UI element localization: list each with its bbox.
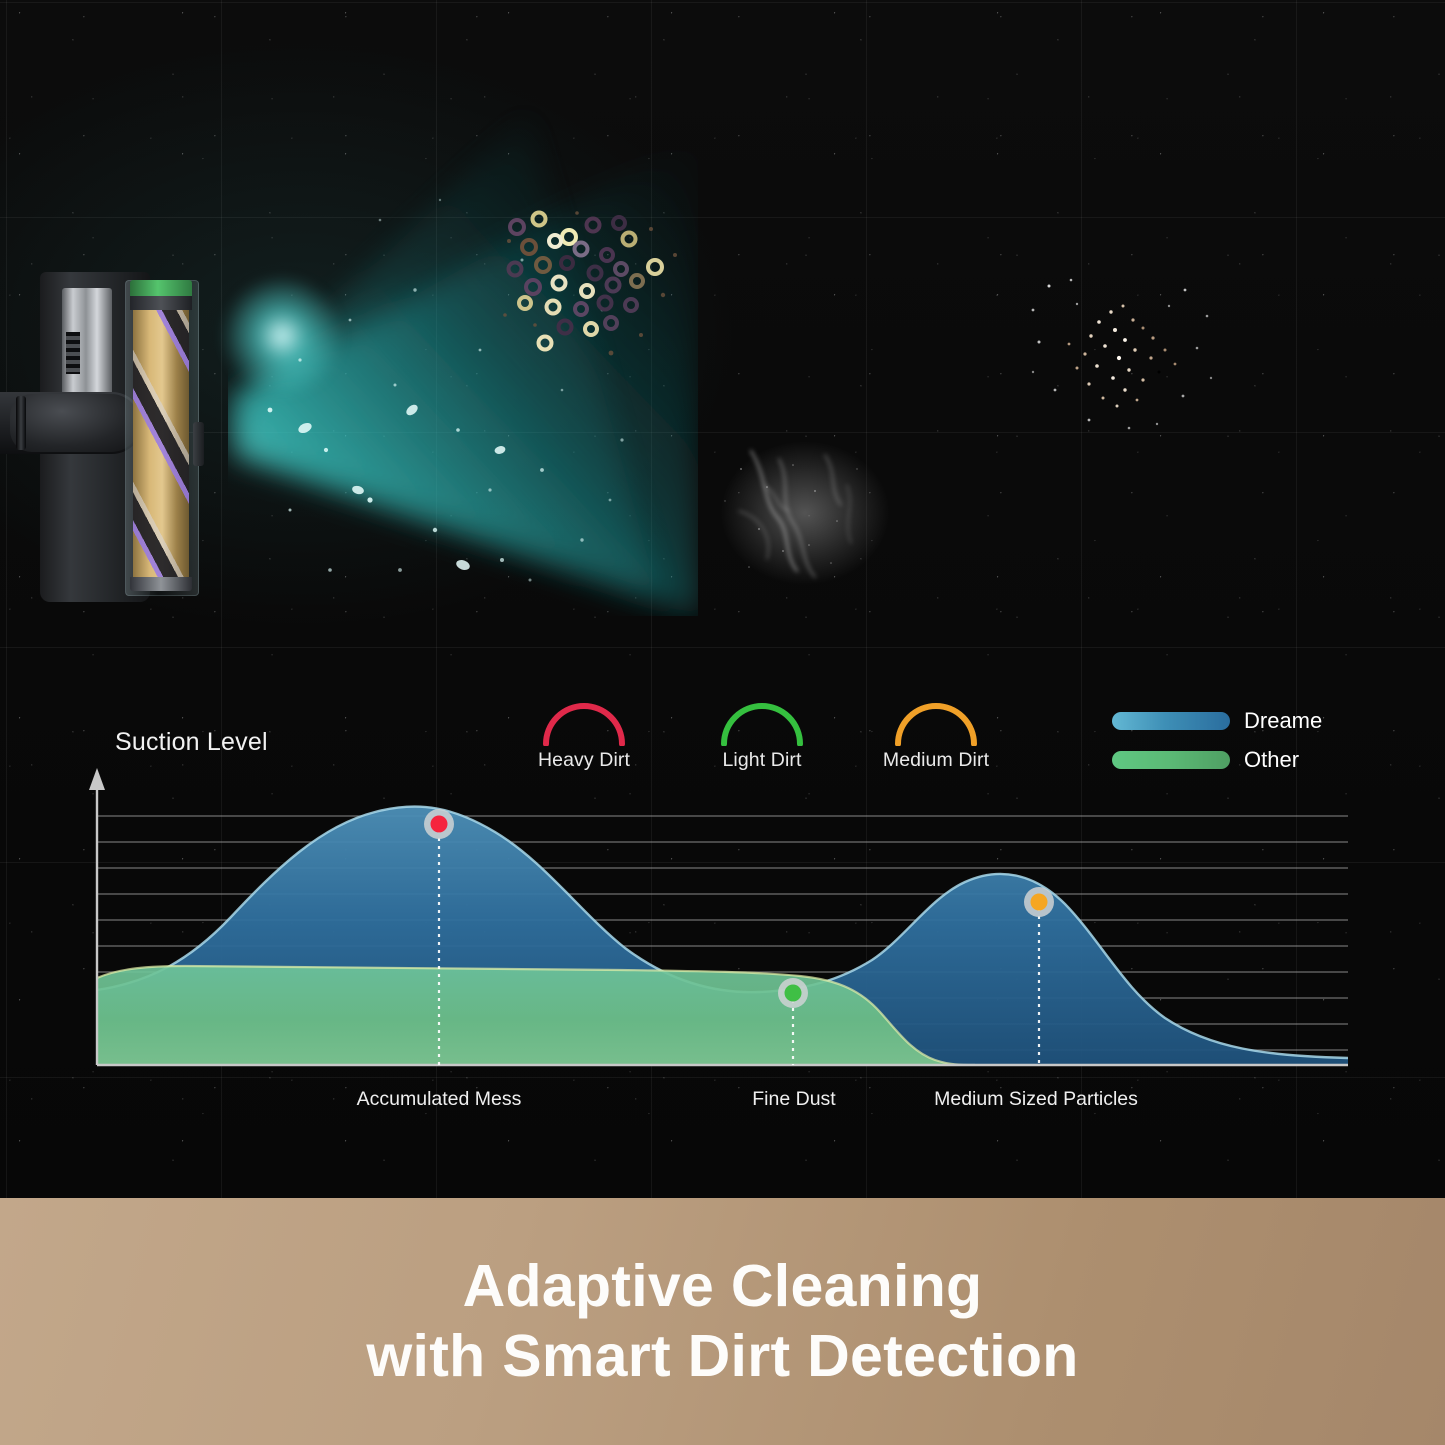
vacuum-top-cap <box>130 280 192 296</box>
marker-accumulated-mess[interactable] <box>424 809 454 839</box>
x-tick-medium-sized-particles: Medium Sized Particles <box>934 1088 1138 1111</box>
vacuum-cleaner <box>0 272 242 602</box>
vacuum-vent <box>66 332 80 374</box>
banner-headline-line2: with Smart Dirt Detection <box>366 1322 1078 1391</box>
marker-medium-sized-particles[interactable] <box>1024 887 1054 917</box>
x-tick-accumulated-mess: Accumulated Mess <box>357 1088 522 1111</box>
vacuum-latch <box>193 422 204 466</box>
vacuum-joint <box>10 394 140 452</box>
vacuum-roller-brush <box>133 290 189 586</box>
bottom-banner: Adaptive Cleaning with Smart Dirt Detect… <box>0 1198 1445 1445</box>
product-feature-image: Suction Level Heavy Dirt Light Dirt Medi… <box>0 0 1445 1445</box>
suction-level-chart <box>0 660 1445 1140</box>
dark-scene: Suction Level Heavy Dirt Light Dirt Medi… <box>0 0 1445 1198</box>
y-axis-arrow-icon <box>89 768 105 790</box>
vacuum-roller-band <box>130 296 192 310</box>
x-tick-fine-dust: Fine Dust <box>752 1088 835 1111</box>
banner-headline-line1: Adaptive Cleaning <box>463 1252 983 1321</box>
marker-fine-dust[interactable] <box>778 978 808 1008</box>
vacuum-bottom-cap <box>130 577 192 591</box>
vacuum-collar <box>16 396 26 450</box>
